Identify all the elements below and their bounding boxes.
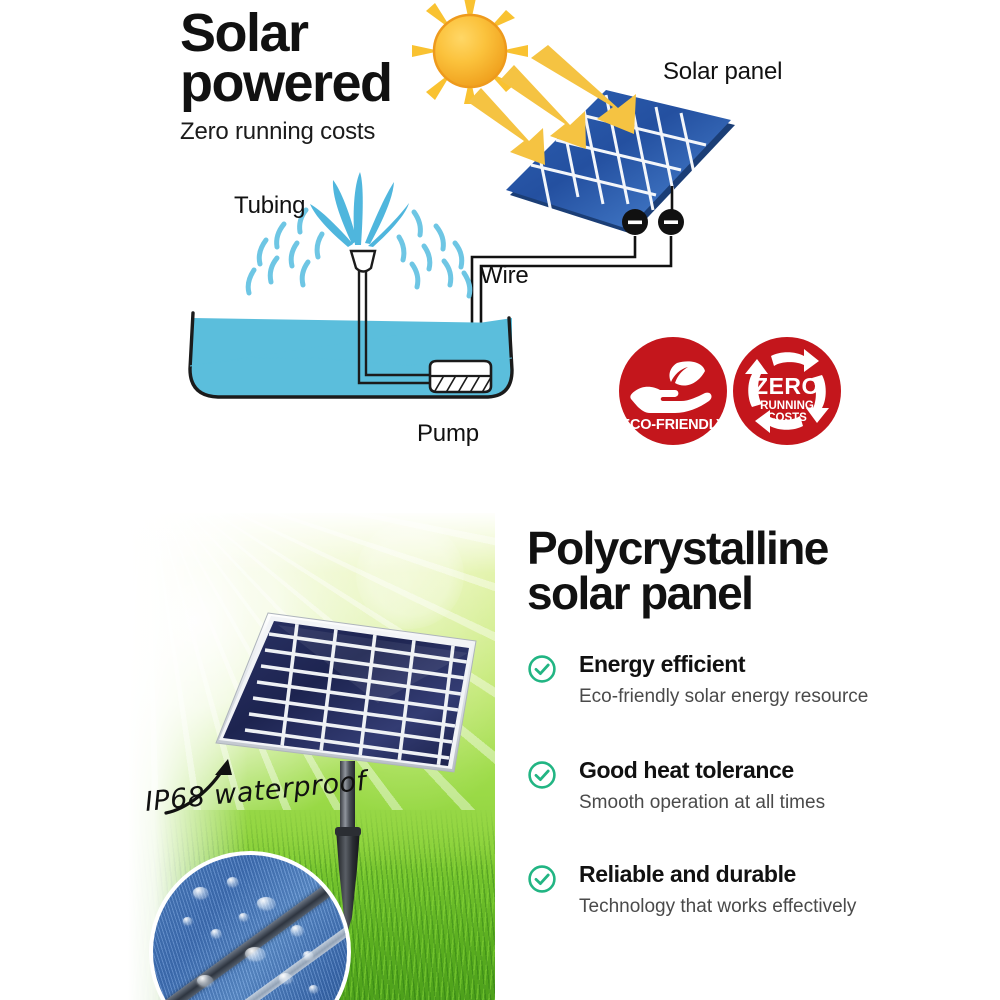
zero-label: ZERO	[754, 373, 820, 399]
eco-friendly-badge-label: ECO-FRIENDLY	[620, 417, 726, 433]
solar-pump-diagram	[0, 0, 1000, 490]
bottom-product-section: IP68 waterproof	[0, 490, 1000, 1000]
check-circle-icon	[527, 654, 557, 684]
product-heading-line1: Polycrystalline	[527, 526, 947, 571]
feature-description: Smooth operation at all times	[579, 790, 879, 816]
check-circle-icon	[527, 760, 557, 790]
fountain-spray	[310, 172, 409, 247]
feature-title: Energy efficient	[579, 651, 745, 678]
check-circle-icon	[527, 864, 557, 894]
feature-description: Technology that works effectively	[579, 894, 879, 920]
label-solar-panel: Solar panel	[663, 58, 782, 86]
label-wire: Wire	[480, 262, 529, 290]
product-photo: IP68 waterproof	[128, 513, 495, 1000]
label-pump: Pump	[417, 420, 479, 448]
product-heading: Polycrystalline solar panel	[527, 526, 947, 615]
pump-graphic	[430, 361, 494, 396]
eco-friendly-badge: ECO-FRIENDLY	[619, 337, 727, 445]
label-tubing: Tubing	[234, 192, 305, 220]
costs-label: COSTS	[767, 412, 807, 424]
infographic-page: Solar powered Zero running costs	[0, 0, 1000, 1000]
hand-leaf-icon	[630, 361, 711, 413]
feature-title: Reliable and durable	[579, 861, 796, 888]
zero-running-costs-badge: ZERO RUNNING COSTS	[733, 337, 841, 445]
feature-description: Eco-friendly solar energy resource	[579, 684, 879, 710]
product-heading-line2: solar panel	[527, 571, 947, 616]
waterproof-closeup-inset	[149, 851, 351, 1000]
running-label: RUNNING	[760, 400, 814, 412]
feature-title: Good heat tolerance	[579, 757, 794, 784]
top-diagram-section: Solar powered Zero running costs	[0, 0, 1000, 490]
